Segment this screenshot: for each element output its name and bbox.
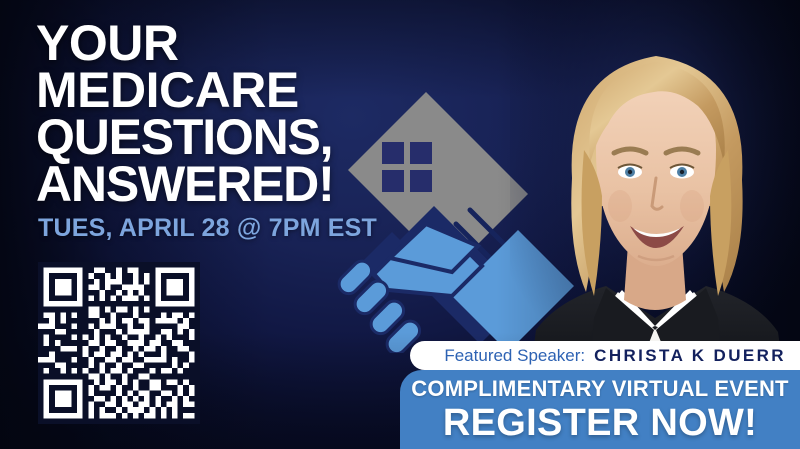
- headline-line-4: ANSWERED!: [36, 161, 436, 208]
- featured-speaker-label: Featured Speaker:: [444, 346, 585, 366]
- event-date-time: TUES, APRIL 28 @ 7PM EST: [38, 214, 377, 243]
- headline-line-3: QUESTIONS,: [36, 114, 436, 161]
- featured-speaker-name: CHRISTA K DUERR: [594, 346, 786, 366]
- qr-code[interactable]: [38, 262, 200, 424]
- cta-register-now: REGISTER NOW!: [400, 402, 800, 444]
- headline-line-1: YOUR: [36, 20, 436, 67]
- headline-line-2: MEDICARE: [36, 67, 436, 114]
- headline: YOUR MEDICARE QUESTIONS, ANSWERED!: [36, 20, 436, 208]
- register-cta[interactable]: COMPLIMENTARY VIRTUAL EVENT REGISTER NOW…: [400, 370, 800, 449]
- speaker-portrait: [510, 0, 800, 392]
- promo-banner: YOUR MEDICARE QUESTIONS, ANSWERED! TUES,…: [0, 0, 800, 449]
- featured-speaker-bar: Featured Speaker: CHRISTA K DUERR: [410, 341, 800, 370]
- cta-subtitle: COMPLIMENTARY VIRTUAL EVENT: [400, 376, 800, 402]
